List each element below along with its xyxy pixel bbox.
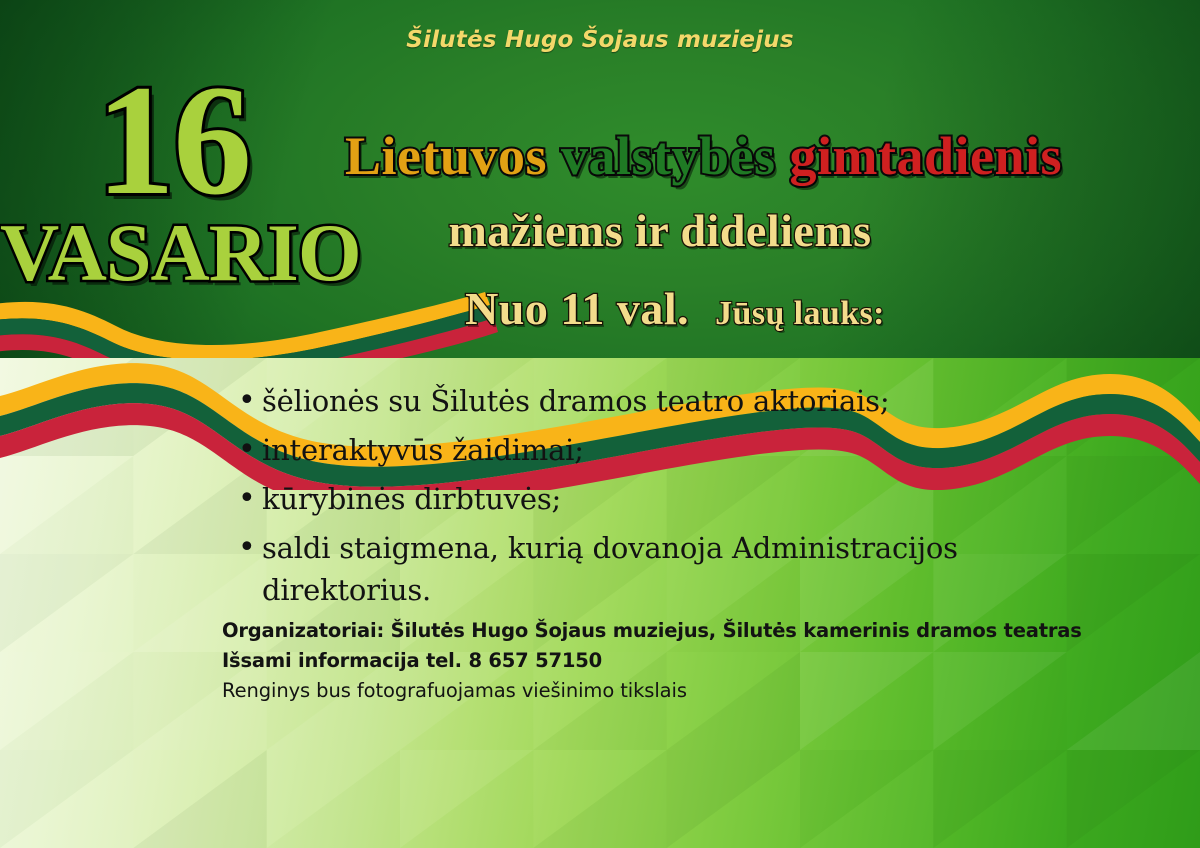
footer-contact: Išsami informacija tel. 8 657 57150 [222,646,1082,676]
date-day: 16 [96,62,250,220]
bullet-dot-icon: • [238,478,262,520]
list-item-label: šėlionės su Šilutės dramos teatro aktori… [262,380,889,422]
bullet-dot-icon: • [238,527,262,569]
bullet-dot-icon: • [238,380,262,422]
time-primary: Nuo 11 val. [465,283,689,334]
bullet-list: • šėlionės su Šilutės dramos teatro akto… [238,380,1118,618]
headline: Lietuvos valstybės gimtadienis [345,129,1062,183]
list-item-label: kūrybinės dirbtuvės; [262,478,561,520]
time-secondary: Jūsų lauks: [715,295,885,332]
headline-word-valstybes: valstybės [561,126,776,186]
footer-organizers: Organizatoriai: Šilutės Hugo Šojaus muzi… [222,616,1082,646]
bullet-dot-icon: • [238,429,262,471]
poster-root: Šilutės Hugo Šojaus muziejus 16 VASARIO … [0,0,1200,848]
list-item-label: saldi staigmena, kurią dovanoja Administ… [262,527,1118,611]
list-item: • interaktyvūs žaidimai; [238,429,1118,471]
footer-notice: Renginys bus fotografuojamas viešinimo t… [222,676,1082,706]
headline-word-lietuvos: Lietuvos [345,126,547,186]
list-item: • šėlionės su Šilutės dramos teatro akto… [238,380,1118,422]
headline-word-gimtadienis: gimtadienis [790,126,1063,186]
header-panel: Šilutės Hugo Šojaus muziejus 16 VASARIO … [0,0,1200,358]
list-item-label: interaktyvūs žaidimai; [262,429,584,471]
time-line: Nuo 11 val. Jūsų lauks: [0,286,1200,332]
footer-block: Organizatoriai: Šilutės Hugo Šojaus muzi… [222,616,1082,706]
museum-name: Šilutės Hugo Šojaus muziejus [0,27,1200,53]
list-item: • kūrybinės dirbtuvės; [238,478,1118,520]
subtitle: mažiems ir dideliems [0,208,1200,254]
list-item: • saldi staigmena, kurią dovanoja Admini… [238,527,1118,611]
